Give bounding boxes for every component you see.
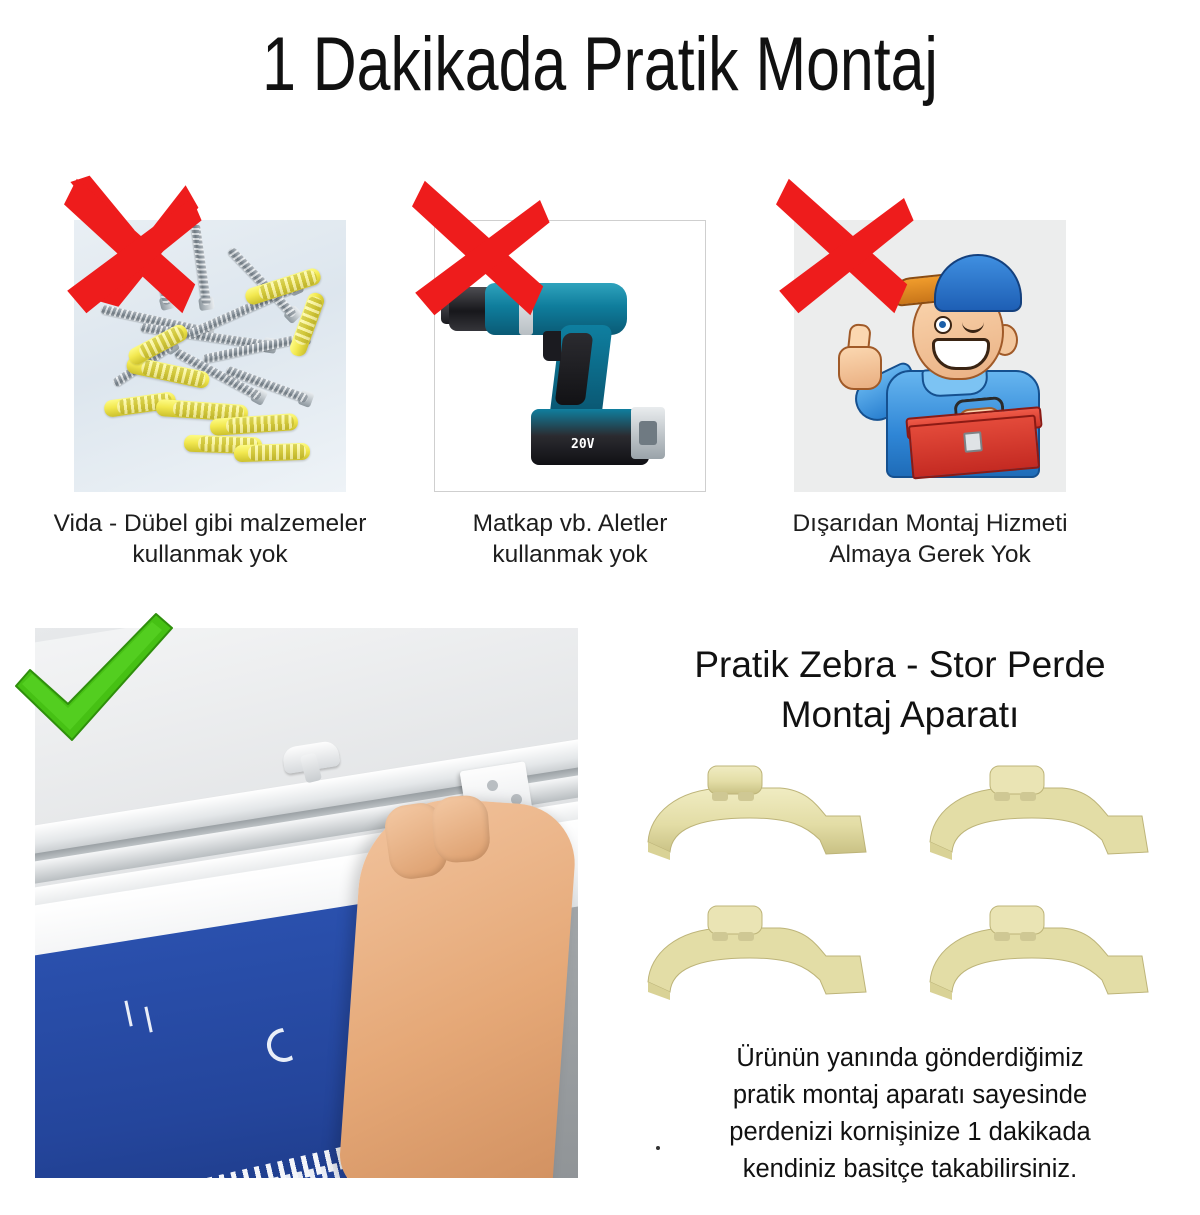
description-line-3: perdenizi kornişinize 1 dakikada — [620, 1114, 1200, 1151]
mounting-clip-photo — [912, 896, 1162, 1008]
no-need-card-screws-dowels: Vida - Dübel gibi malzemeler kullanmak y… — [40, 160, 380, 590]
caption-line-2: kullanmak yok — [400, 539, 740, 570]
description-line-1: Ürünün yanında gönderdiğimiz — [620, 1040, 1200, 1077]
green-check-icon — [10, 612, 176, 752]
product-heading: Pratik Zebra - Stor Perde Montaj Aparatı — [600, 640, 1200, 740]
product-description: Ürünün yanında gönderdiğimiz pratik mont… — [620, 1040, 1200, 1188]
mounting-clip-photo — [912, 756, 1162, 868]
caption-line-1: Vida - Dübel gibi malzemeler — [40, 508, 380, 539]
card-caption: Matkap vb. Aletler kullanmak yok — [400, 508, 740, 570]
no-need-cards-row: Vida - Dübel gibi malzemeler kullanmak y… — [0, 160, 1200, 590]
mounting-clip-photo — [630, 896, 880, 1008]
screws-and-wall-plugs-photo — [74, 220, 346, 492]
page-title: 1 Dakikada Pratik Montaj — [120, 22, 1080, 108]
description-line-2: pratik montaj aparatı sayesinde — [620, 1077, 1200, 1114]
cordless-drill-photo: 20V — [434, 220, 706, 492]
card-caption: Dışarıdan Montaj Hizmeti Almaya Gerek Yo… — [760, 508, 1100, 570]
mounting-clip-photo — [630, 756, 880, 868]
caption-line-1: Matkap vb. Aletler — [400, 508, 740, 539]
no-need-card-installer-service: Dışarıdan Montaj Hizmeti Almaya Gerek Yo… — [760, 160, 1100, 590]
promo-banner: 1 Dakikada Pratik Montaj — [0, 0, 1200, 1215]
caption-line-1: Dışarıdan Montaj Hizmeti — [760, 508, 1100, 539]
battery-voltage-label: 20V — [571, 437, 594, 452]
card-caption: Vida - Dübel gibi malzemeler kullanmak y… — [40, 508, 380, 570]
no-need-card-power-drill: 20V Matkap vb. Aletler kullanmak yok — [400, 160, 740, 590]
description-line-4: kendiniz basitçe takabilirsiniz. — [620, 1151, 1200, 1188]
stray-dot-mark — [656, 1146, 660, 1150]
handyman-with-toolbox-illustration — [794, 220, 1066, 492]
caption-line-2: kullanmak yok — [40, 539, 380, 570]
product-heading-line-1: Pratik Zebra - Stor Perde — [600, 640, 1200, 690]
caption-line-2: Almaya Gerek Yok — [760, 539, 1100, 570]
mounting-clips-grid — [612, 756, 1192, 1006]
product-heading-line-2: Montaj Aparatı — [600, 690, 1200, 740]
